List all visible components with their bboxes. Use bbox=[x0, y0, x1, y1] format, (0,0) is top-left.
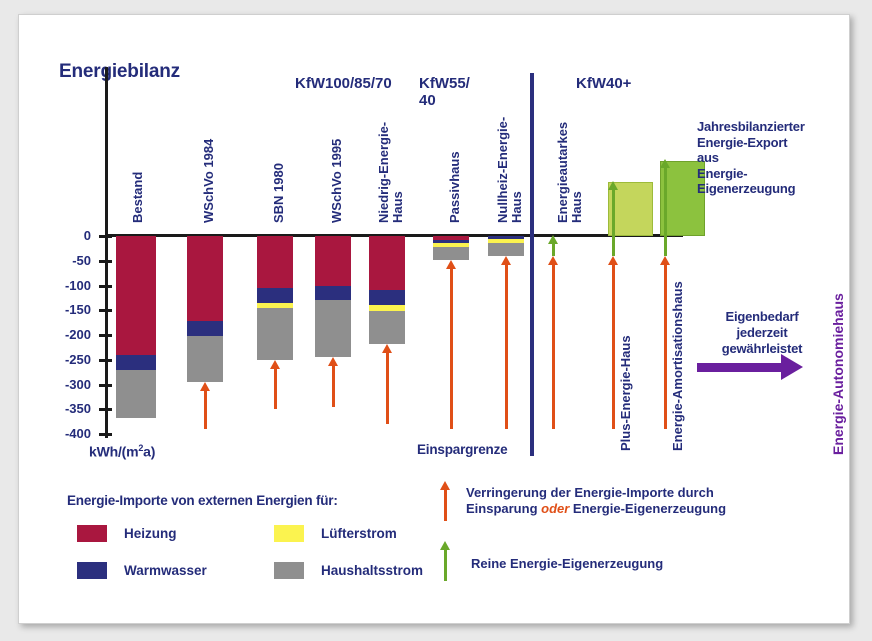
group-header-kfw100: KfW100/85/70 bbox=[295, 75, 392, 92]
einspargrenze-divider bbox=[530, 73, 534, 456]
einspargrenze-label: Einspargrenze bbox=[417, 442, 507, 457]
y-tick-400 bbox=[99, 433, 112, 436]
purple-arrow-head bbox=[781, 354, 803, 380]
orange-arrow-shaft bbox=[274, 368, 277, 410]
bar-caption: Niedrig-Energie- Haus bbox=[377, 122, 405, 223]
y-label-50: -50 bbox=[45, 253, 91, 268]
orange-arrow-shaft bbox=[450, 268, 453, 429]
y-axis-line bbox=[105, 67, 108, 438]
y-label-350: -350 bbox=[45, 401, 91, 416]
y-tick-250 bbox=[99, 359, 112, 362]
bar-segment bbox=[369, 236, 405, 290]
generation-bar bbox=[608, 182, 653, 236]
green-arrow-shaft bbox=[552, 243, 555, 256]
y-label-400: -400 bbox=[45, 426, 91, 441]
bar-segment bbox=[315, 286, 351, 301]
y-axis-unit: kWh/(m2a) bbox=[89, 443, 155, 460]
green-arrow-shaft bbox=[664, 167, 667, 256]
legend-label-luefterstrom: Lüfterstrom bbox=[321, 526, 397, 541]
bar-segment bbox=[187, 236, 223, 321]
bar-segment bbox=[369, 290, 405, 305]
bar-caption: Passivhaus bbox=[448, 151, 462, 223]
bar-segment bbox=[257, 308, 293, 360]
orange-arrow-shaft bbox=[612, 264, 615, 429]
y-tick-50 bbox=[99, 260, 112, 263]
y-label-0: 0 bbox=[45, 228, 91, 243]
y-tick-200 bbox=[99, 334, 112, 337]
orange-arrow-shaft bbox=[204, 390, 207, 429]
legend-swatch-luefterstrom bbox=[274, 525, 304, 542]
legend-oder-emphasis: oder bbox=[541, 501, 569, 516]
bar-segment bbox=[187, 321, 223, 336]
legend-orange-arrow-text: Verringerung der Energie-Importe durchEi… bbox=[466, 485, 726, 517]
y-label-150: -150 bbox=[45, 302, 91, 317]
bar-caption: Bestand bbox=[131, 172, 145, 223]
orange-arrow-shaft bbox=[386, 352, 389, 424]
orange-arrow-shaft bbox=[332, 365, 335, 407]
bar-segment bbox=[116, 236, 156, 355]
bar-segment bbox=[433, 247, 469, 259]
y-label-100: -100 bbox=[45, 278, 91, 293]
bar-caption: SBN 1980 bbox=[272, 163, 286, 223]
green-arrow-shaft bbox=[612, 189, 615, 256]
bar-segment bbox=[257, 236, 293, 288]
y-tick-0 bbox=[99, 235, 112, 238]
bar-caption: Energie-Amortisationshaus bbox=[671, 281, 685, 451]
bar-segment bbox=[488, 243, 524, 256]
bar-segment bbox=[187, 336, 223, 382]
legend-swatch-heizung bbox=[77, 525, 107, 542]
y-tick-300 bbox=[99, 384, 112, 387]
y-tick-350 bbox=[99, 408, 112, 411]
bar-segment bbox=[116, 370, 156, 418]
y-tick-100 bbox=[99, 285, 112, 288]
bar-segment bbox=[315, 236, 351, 286]
y-label-200: -200 bbox=[45, 327, 91, 342]
bar-caption: Plus-Energie-Haus bbox=[619, 335, 633, 451]
bar-segment bbox=[257, 288, 293, 303]
bar-segment bbox=[116, 355, 156, 370]
bar-caption: Nullheiz-Energie- Haus bbox=[496, 117, 524, 223]
y-tick-150 bbox=[99, 309, 112, 312]
group-header-kfw55: KfW55/ 40 bbox=[419, 75, 470, 109]
legend-label-haushaltsstrom: Haushaltsstrom bbox=[321, 563, 423, 578]
orange-arrow-shaft bbox=[552, 264, 555, 429]
legend-green-arrow-text: Reine Energie-Eigenerzeugung bbox=[471, 556, 663, 572]
annotation-energie-export: Jahresbilanzierter Energie-Export aus En… bbox=[697, 119, 805, 197]
bar-caption: WSchVo 1984 bbox=[202, 139, 216, 223]
chart-canvas: Energiebilanz KfW100/85/70 KfW55/ 40 KfW… bbox=[18, 14, 850, 624]
bar-segment bbox=[369, 311, 405, 344]
bar-caption: Energieautarkes Haus bbox=[556, 122, 584, 223]
bar-segment bbox=[315, 300, 351, 357]
legend-swatch-warmwasser bbox=[77, 562, 107, 579]
orange-arrow-shaft bbox=[505, 264, 508, 429]
page-title: Energiebilanz bbox=[59, 61, 180, 83]
y-label-300: -300 bbox=[45, 377, 91, 392]
legend-label-warmwasser: Warmwasser bbox=[124, 563, 207, 578]
annotation-energie-autonomiehaus: Energie-Autonomiehaus bbox=[831, 293, 845, 455]
y-label-250: -250 bbox=[45, 352, 91, 367]
group-header-kfw40plus: KfW40+ bbox=[576, 75, 631, 92]
bar-caption: WSchVo 1995 bbox=[330, 139, 344, 223]
legend-swatch-haushaltsstrom bbox=[274, 562, 304, 579]
annotation-eigenbedarf: Eigenbedarf jederzeit gewährleistet bbox=[702, 309, 822, 357]
legend-label-heizung: Heizung bbox=[124, 526, 177, 541]
legend-title: Energie-Importe von externen Energien fü… bbox=[67, 493, 338, 508]
purple-arrow-shaft bbox=[697, 363, 783, 372]
orange-arrow-shaft bbox=[664, 264, 667, 429]
